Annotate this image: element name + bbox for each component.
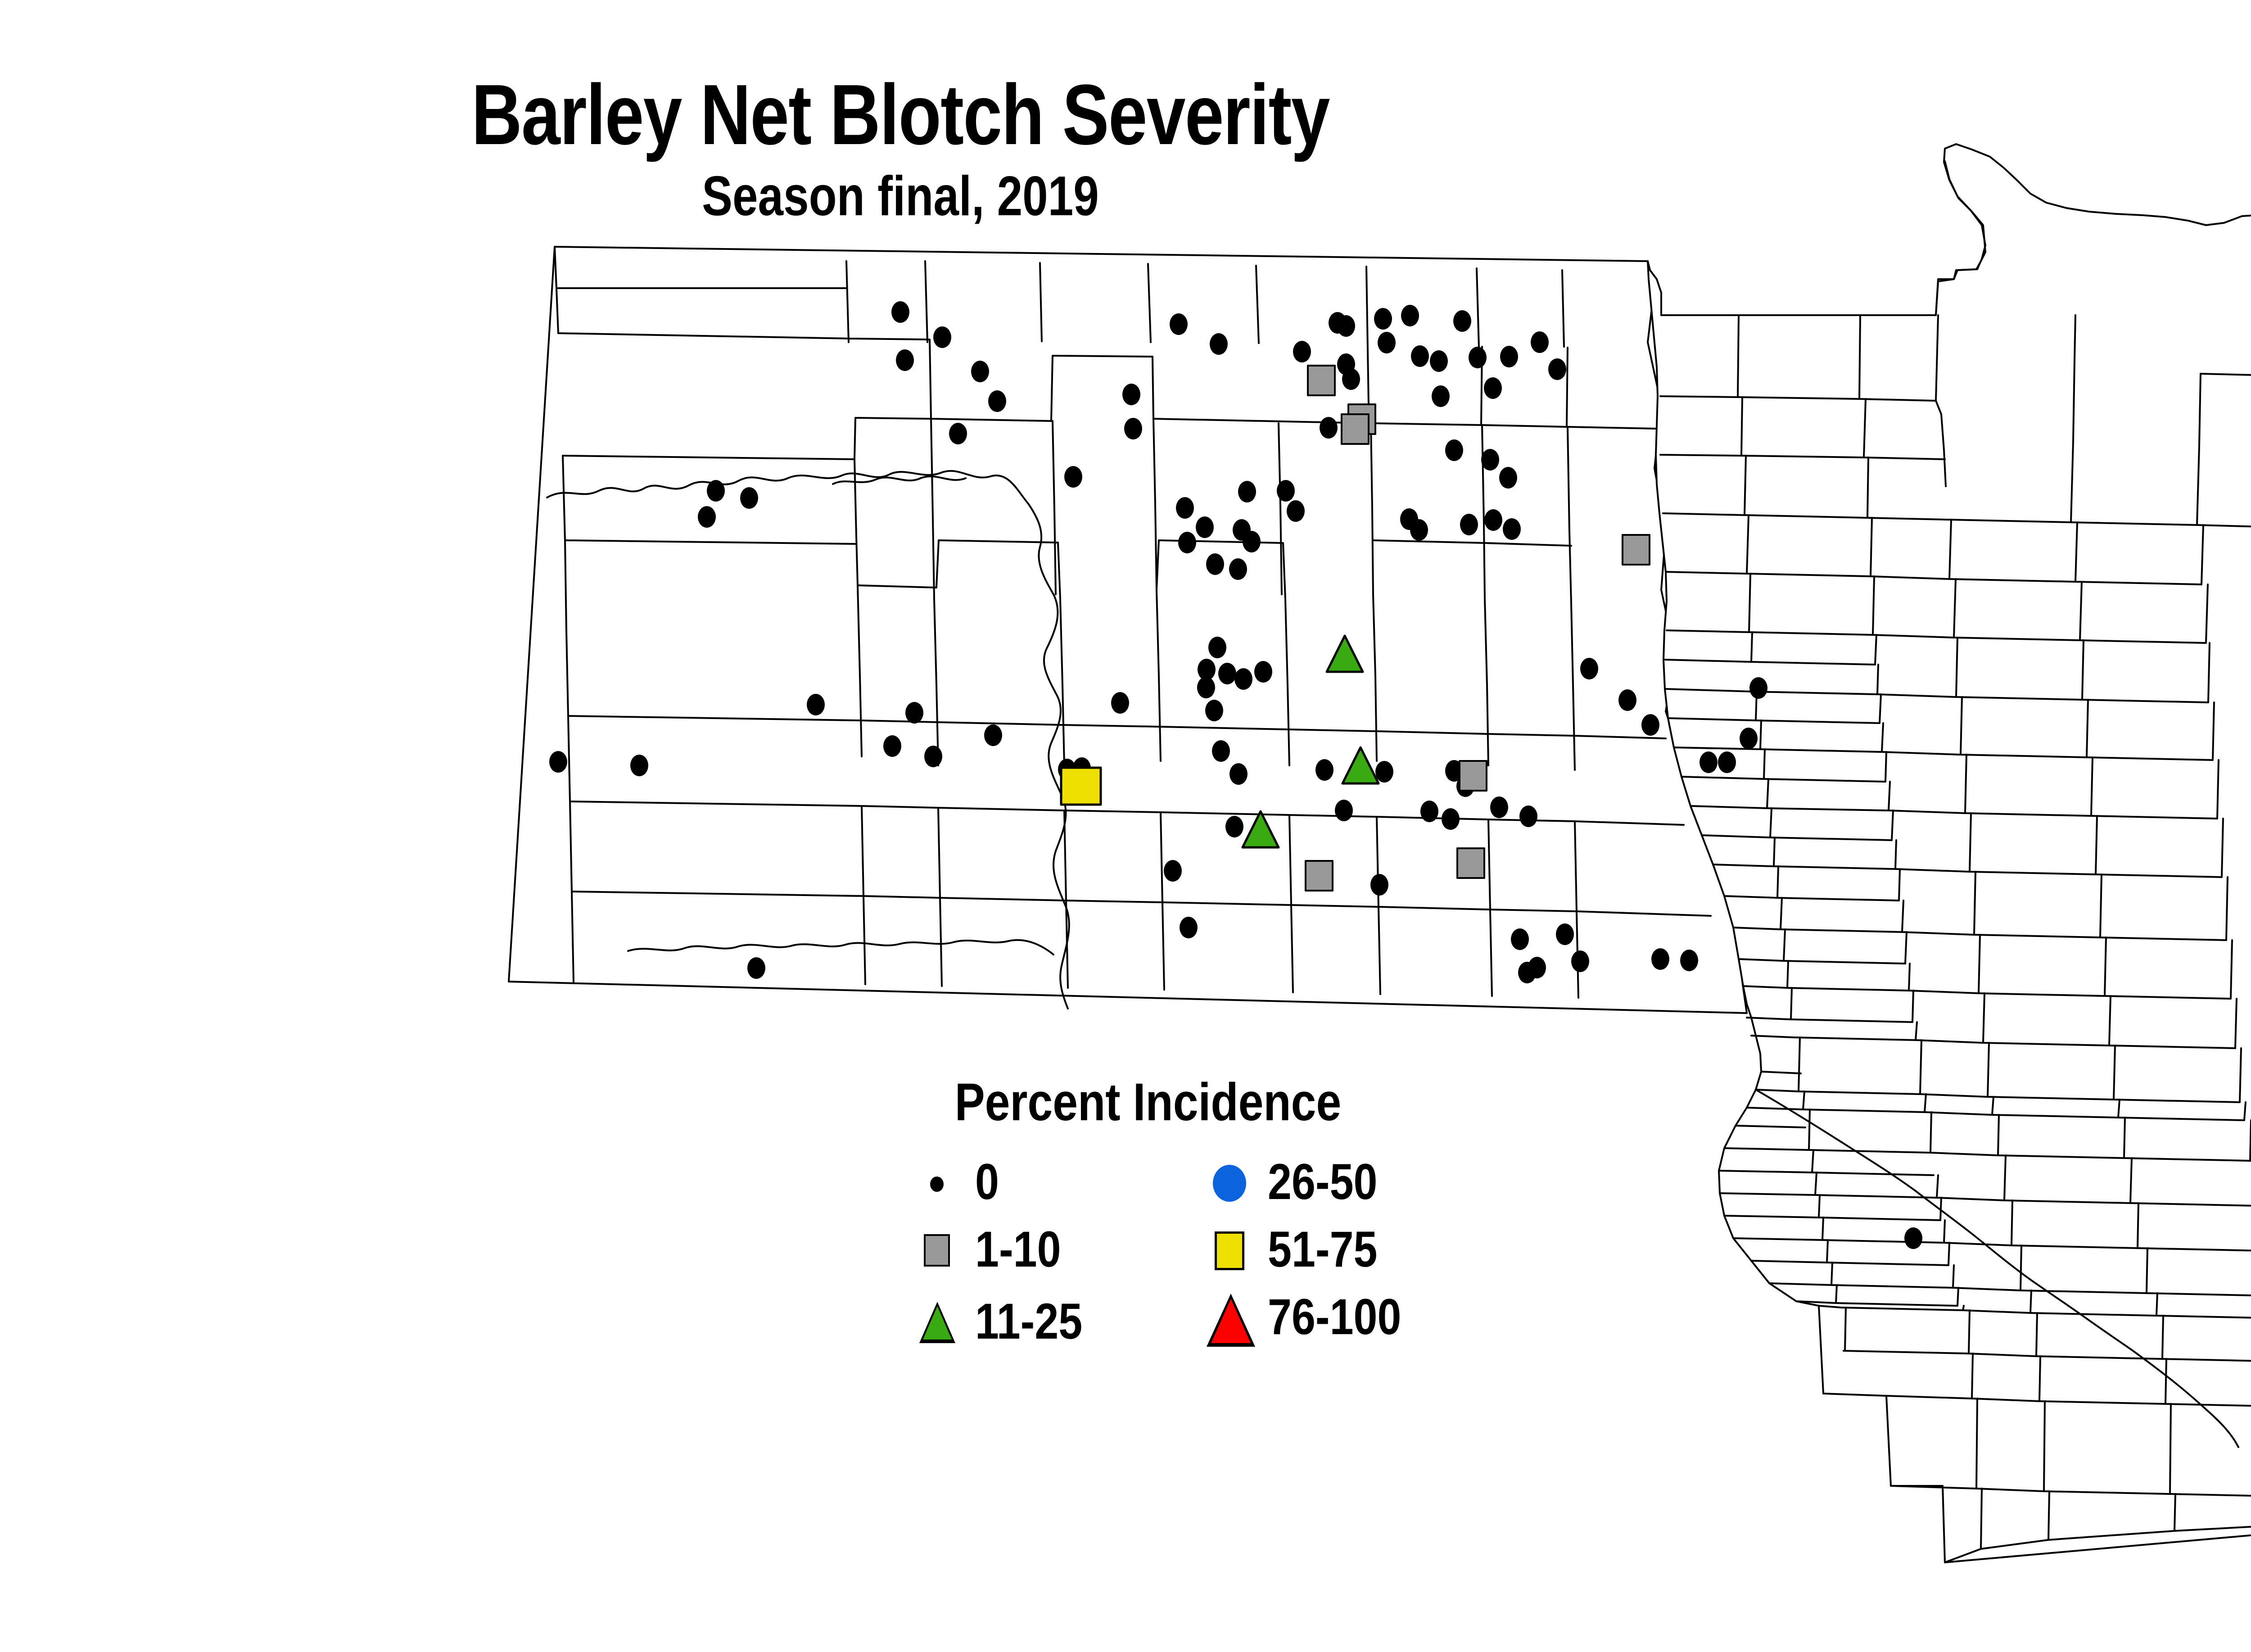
green-triangle-icon xyxy=(909,1294,963,1349)
legend-item-76-100[interactable]: 76-100 xyxy=(1202,1288,1425,1346)
gray-square-icon xyxy=(909,1222,963,1276)
blue-circle-icon xyxy=(1202,1155,1256,1209)
legend-item-51-75[interactable]: 51-75 xyxy=(1202,1220,1397,1278)
black-dot-icon xyxy=(909,1155,963,1209)
legend-item-label: 1-10 xyxy=(975,1220,1061,1278)
legend-item-label: 11-25 xyxy=(975,1292,1082,1350)
legend: Percent Incidence 0 1-10 11-25 26-50 51-… xyxy=(909,1072,1495,1396)
marker-group-51-75 xyxy=(1061,768,1101,805)
legend-item-label: 0 xyxy=(975,1153,999,1211)
legend-item-11-25[interactable]: 11-25 xyxy=(909,1292,1101,1350)
legend-item-1-10[interactable]: 1-10 xyxy=(909,1220,1076,1278)
county-map xyxy=(0,0,2251,1652)
legend-item-0[interactable]: 0 xyxy=(909,1153,1003,1211)
legend-item-label: 26-50 xyxy=(1268,1153,1377,1211)
yellow-square-icon xyxy=(1202,1222,1256,1276)
legend-item-26-50[interactable]: 26-50 xyxy=(1202,1153,1397,1211)
map-page: Barley Net Blotch Severity Season final,… xyxy=(0,0,2251,1652)
legend-item-label: 76-100 xyxy=(1268,1288,1401,1346)
legend-title: Percent Incidence xyxy=(953,1072,1343,1133)
legend-item-label: 51-75 xyxy=(1268,1220,1377,1278)
red-triangle-icon xyxy=(1202,1290,1256,1344)
